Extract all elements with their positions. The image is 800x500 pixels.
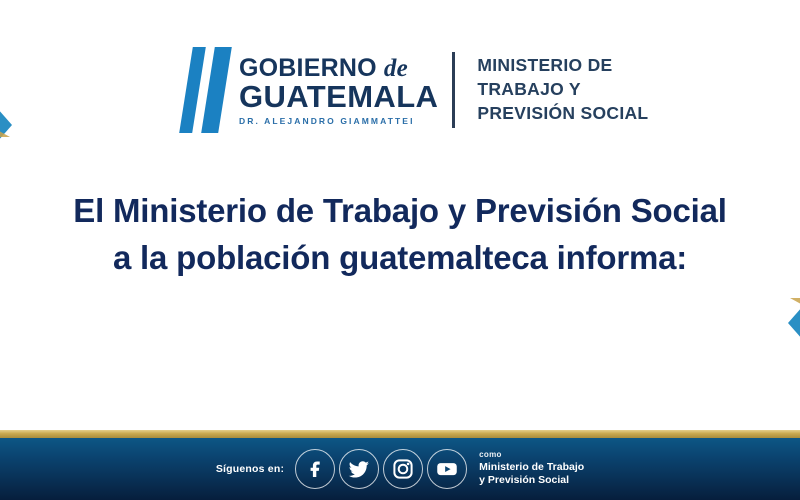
gold-divider-stripe <box>0 430 800 438</box>
footer-bar: Síguenos en: <box>0 438 800 500</box>
social-link-youtube[interactable] <box>427 449 467 489</box>
ministry-line-2: TRABAJO Y <box>477 78 648 102</box>
account-name-line-1: Ministerio de Trabajo <box>479 461 584 474</box>
footer-account-names: como Ministerio de Trabajo y Previsión S… <box>479 450 584 487</box>
chevron-gold-accent-right-icon <box>790 298 800 309</box>
account-name-line-2: y Previsión Social <box>479 474 584 487</box>
follow-us-label: Síguenos en: <box>216 463 284 475</box>
chevron-right-pointing-left-edge-icon <box>0 100 12 150</box>
gobierno-word: GOBIERNO <box>239 54 377 82</box>
social-link-twitter[interactable] <box>339 449 379 489</box>
gobierno-wordmark: GOBIERNO de GUATEMALA DR. ALEJANDRO GIAM… <box>239 54 438 127</box>
instagram-icon <box>391 457 415 481</box>
gobierno-bar-2-icon <box>201 47 232 133</box>
social-links-row <box>295 449 467 489</box>
guatemala-word: GUATEMALA <box>239 81 438 114</box>
social-link-instagram[interactable] <box>383 449 423 489</box>
youtube-icon <box>434 456 460 482</box>
logo-divider <box>452 52 455 128</box>
ministry-line-3: PREVISIÓN SOCIAL <box>477 102 648 126</box>
footer-content: Síguenos en: <box>216 449 584 489</box>
twitter-icon <box>346 456 372 482</box>
social-link-facebook[interactable] <box>295 449 335 489</box>
ministry-line-1: MINISTERIO DE <box>477 54 648 78</box>
logo-lockup: GOBIERNO de GUATEMALA DR. ALEJANDRO GIAM… <box>186 42 648 138</box>
gobierno-bars-icon <box>186 47 225 133</box>
facebook-icon <box>303 457 327 481</box>
account-prefix-label: como <box>479 450 584 460</box>
headline-line-1: El Ministerio de Trabajo y Previsión Soc… <box>0 188 800 235</box>
president-name-subtitle: DR. ALEJANDRO GIAMMATTEI <box>239 116 438 126</box>
ministry-wordmark: MINISTERIO DE TRABAJO Y PREVISIÓN SOCIAL <box>477 54 648 125</box>
headline-message: El Ministerio de Trabajo y Previsión Soc… <box>0 188 800 282</box>
headline-line-2: a la población guatemalteca informa: <box>0 235 800 282</box>
chevron-gold-accent-left-icon <box>0 126 10 137</box>
gobierno-bar-1-icon <box>179 47 206 133</box>
poster-canvas: GOBIERNO de GUATEMALA DR. ALEJANDRO GIAM… <box>0 0 800 500</box>
gobierno-de-word: de <box>384 55 408 82</box>
gobierno-line-1: GOBIERNO de <box>239 56 438 81</box>
